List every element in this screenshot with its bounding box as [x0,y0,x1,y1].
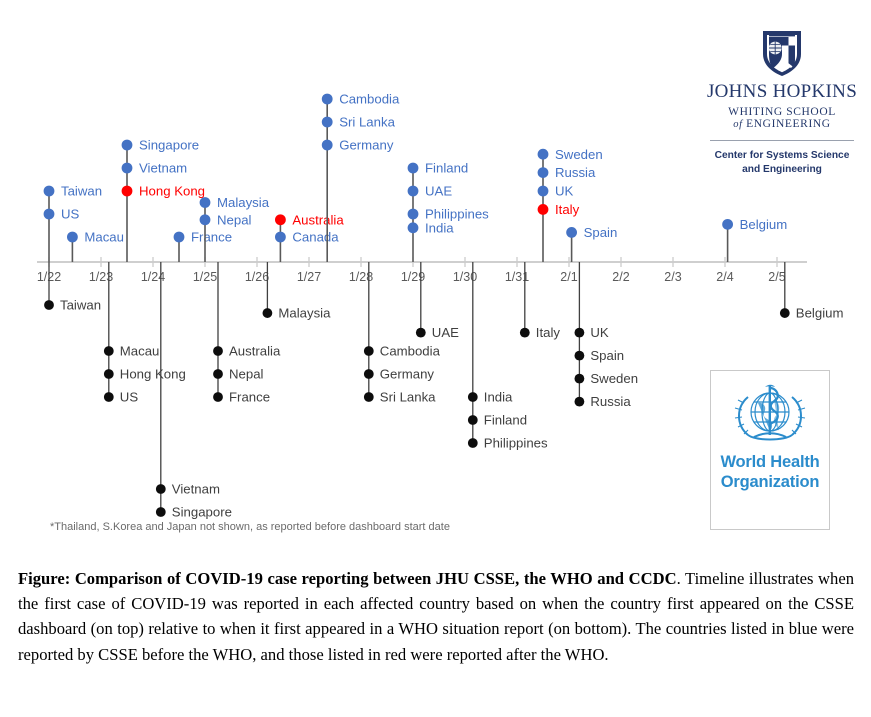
timeline-node-label[interactable]: Spain [590,348,624,363]
timeline-node-label[interactable]: Russia [590,394,631,409]
timeline-node-dot[interactable] [575,328,585,338]
timeline-node-label[interactable]: Australia [229,344,281,359]
jhu-school-line1: WHITING SCHOOL [706,106,858,118]
who-name-line1: World Health [711,453,829,471]
jhu-of-italic: of [733,119,742,130]
timeline-node-label[interactable]: Singapore [172,505,232,520]
timeline-node-dot[interactable] [213,392,223,402]
timeline-node-dot[interactable] [722,219,733,230]
timeline-node-dot[interactable] [67,232,78,243]
timeline-node-label[interactable]: Italy [536,325,561,340]
figure-root: 1/221/231/241/251/261/271/281/291/301/31… [0,0,871,717]
timeline-node-label[interactable]: Hong Kong [139,184,205,199]
timeline-node-dot[interactable] [200,214,211,225]
timeline-node-label[interactable]: India [425,220,454,235]
timeline-node-dot[interactable] [322,117,333,128]
axis-tick-label: 1/25 [193,270,217,284]
timeline-node-dot[interactable] [364,369,374,379]
timeline-node-label[interactable]: US [120,390,139,405]
timeline-node-dot[interactable] [213,369,223,379]
timeline-node-dot[interactable] [275,214,286,225]
timeline-node-label[interactable]: Sweden [555,147,603,162]
timeline-node-label[interactable]: Philippines [425,207,489,222]
timeline-node-label[interactable]: Macau [120,344,160,359]
timeline-node-dot[interactable] [44,209,55,220]
timeline-node-dot[interactable] [468,392,478,402]
series-csse-top: TaiwanUSMacauSingaporeVietnamHong KongFr… [44,92,788,262]
axis-tick-label: 1/24 [141,270,165,284]
timeline-node-dot[interactable] [408,163,419,174]
timeline-node-dot[interactable] [122,163,133,174]
timeline-node-label[interactable]: Malaysia [217,195,270,210]
timeline-node-dot[interactable] [122,186,133,197]
timeline-node-dot[interactable] [538,167,549,178]
timeline-node-label[interactable]: Italy [555,202,580,217]
timeline-node-label[interactable]: Nepal [229,367,264,382]
jhu-shield-svg [760,28,804,78]
timeline-node-label[interactable]: Sweden [590,371,638,386]
caption-lead: Figure [18,569,65,588]
axis-tick-label: 2/3 [664,270,681,284]
axis-tick-label: 2/2 [612,270,629,284]
timeline-node-dot[interactable] [322,140,333,151]
timeline-node-label[interactable]: India [484,390,513,405]
timeline-node-label[interactable]: Sri Lanka [380,390,436,405]
axis-tick-label: 1/26 [245,270,269,284]
timeline-node-dot[interactable] [44,186,55,197]
jhu-shield-icon [706,28,858,78]
timeline-node-dot[interactable] [575,397,585,407]
timeline-node-dot[interactable] [538,149,549,160]
caption-title: : Comparison of COVID-19 case reporting … [65,569,677,588]
timeline-node-dot[interactable] [200,197,211,208]
timeline-node-label[interactable]: UAE [432,325,459,340]
jhu-center-line2: and Engineering [706,163,858,177]
axis-tick-label: 1/27 [297,270,321,284]
axis-tick-label: 2/1 [560,270,577,284]
timeline-node-dot[interactable] [174,232,185,243]
jhu-engineering-word: ENGINEERING [746,118,831,130]
timeline-node-dot[interactable] [575,374,585,384]
axis-tick-label: 2/4 [716,270,733,284]
timeline-node-label[interactable]: Finland [484,413,527,428]
chart-footnote: *Thailand, S.Korea and Japan not shown, … [50,521,450,533]
timeline-node-dot[interactable] [575,351,585,361]
timeline-node-dot[interactable] [538,204,549,215]
timeline-node-label[interactable]: Belgium [740,217,788,232]
timeline-node-dot[interactable] [213,346,223,356]
timeline-node-label[interactable]: Spain [584,225,618,240]
timeline-node-label[interactable]: Canada [292,230,339,245]
timeline-node-label[interactable]: France [229,390,270,405]
timeline-node-label[interactable]: Belgium [796,306,844,321]
timeline-node-label[interactable]: Hong Kong [120,367,186,382]
timeline-node-label[interactable]: Taiwan [61,184,102,199]
timeline-node-dot[interactable] [122,140,133,151]
timeline-node-dot[interactable] [364,346,374,356]
timeline-node-label[interactable]: Vietnam [139,161,187,176]
timeline-node-label[interactable]: France [191,230,232,245]
timeline-node-label[interactable]: Australia [292,212,344,227]
timeline-node-label[interactable]: Finland [425,161,468,176]
jhu-center-line1: Center for Systems Science [706,149,858,163]
who-logo: World Health Organization [710,370,830,530]
timeline-node-label[interactable]: Nepal [217,212,252,227]
timeline-node-label[interactable]: Vietnam [172,482,220,497]
timeline-node-dot[interactable] [538,186,549,197]
who-emblem-icon [711,379,829,451]
timeline-node-dot[interactable] [156,484,166,494]
timeline-node-dot[interactable] [566,227,577,238]
axis-tick-label: 1/30 [453,270,477,284]
timeline-node-dot[interactable] [275,232,286,243]
axis-tick-label: 1/31 [505,270,529,284]
axis-tick-label: 1/29 [401,270,425,284]
jhu-divider [710,140,854,141]
timeline-node-label[interactable]: Singapore [139,138,199,153]
jhu-school-line2: of ENGINEERING [706,118,858,130]
who-emblem-svg [724,379,816,451]
timeline-node-dot[interactable] [780,308,790,318]
figure-caption: Figure: Comparison of COVID-19 case repo… [18,566,854,667]
timeline-node-dot[interactable] [468,415,478,425]
timeline-node-label[interactable]: Malaysia [278,306,331,321]
timeline-node-dot[interactable] [263,308,273,318]
timeline-node-dot[interactable] [104,392,114,402]
timeline-node-dot[interactable] [408,209,419,220]
timeline-node-dot[interactable] [104,369,114,379]
timeline-node-dot[interactable] [408,186,419,197]
timeline-node-dot[interactable] [44,300,54,310]
axis-tick-label: 1/23 [89,270,113,284]
jhu-logo: JOHNS HOPKINS WHITING SCHOOL of ENGINEER… [706,28,858,177]
timeline-node-label[interactable]: Taiwan [60,298,101,313]
axis-tick-label: 2/5 [768,270,785,284]
timeline-node-label[interactable]: Philippines [484,436,548,451]
timeline-node-dot[interactable] [364,392,374,402]
timeline-node-dot[interactable] [156,507,166,517]
timeline-node-label[interactable]: UK [590,325,609,340]
timeline-node-label[interactable]: Macau [84,230,124,245]
timeline-node-dot[interactable] [408,222,419,233]
timeline-node-dot[interactable] [104,346,114,356]
timeline-node-label[interactable]: UK [555,184,574,199]
timeline-node-label[interactable]: UAE [425,184,452,199]
timeline-node-dot[interactable] [322,94,333,105]
timeline-node-label[interactable]: Cambodia [339,92,400,107]
timeline-node-dot[interactable] [520,328,530,338]
timeline-node-dot[interactable] [468,438,478,448]
timeline-node-label[interactable]: Cambodia [380,344,441,359]
timeline-node-label[interactable]: Sri Lanka [339,115,395,130]
timeline-node-label[interactable]: Russia [555,165,596,180]
timeline-node-dot[interactable] [416,328,426,338]
axis-tick-label: 1/28 [349,270,373,284]
timeline-node-label[interactable]: Germany [339,138,394,153]
who-name-line2: Organization [711,473,829,491]
timeline-node-label[interactable]: US [61,207,80,222]
jhu-wordmark: JOHNS HOPKINS [706,81,858,103]
timeline-node-label[interactable]: Germany [380,367,435,382]
